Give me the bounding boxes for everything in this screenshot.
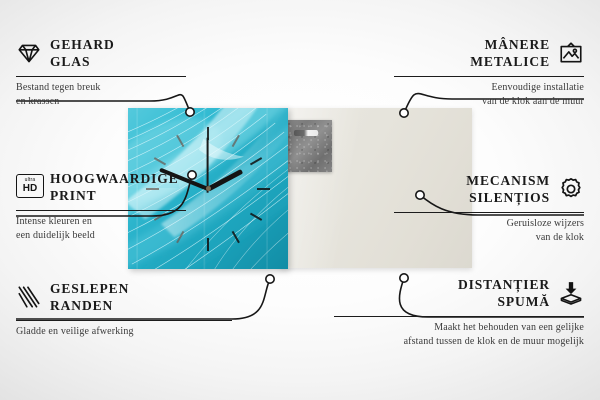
feature-description: Intense kleuren en een duidelijk beeld	[16, 215, 186, 243]
feature-rule	[16, 210, 186, 211]
infographic-stage: GEHARD GLAS Bestand tegen breuk en krass…	[0, 0, 600, 400]
feature-rule	[16, 320, 232, 321]
feature-rule	[394, 76, 584, 77]
foam-spacer-icon	[558, 280, 584, 306]
feature-description: Maakt het behouden van een gelijke afsta…	[334, 321, 584, 349]
hanger-keyhole-slot	[294, 130, 319, 136]
connector-dot-geslepen-randen	[266, 275, 274, 283]
feature-rule	[16, 76, 186, 77]
feature-manere-metalice: MÂNERE METALICE Eenvoudige installatie v…	[394, 36, 584, 109]
feature-description: Gladde en veilige afwerking	[16, 325, 232, 339]
beveled-edges-icon	[16, 284, 42, 310]
feature-description: Bestand tegen breuk en krassen	[16, 81, 186, 109]
clock-center-pin	[206, 186, 211, 191]
feature-title: MÂNERE METALICE	[470, 36, 550, 71]
feature-mecanism-silentios: MECANISM SILENȚIOS Geruisloze wijzers va…	[394, 172, 584, 245]
feature-description: Geruisloze wijzers van de klok	[394, 217, 584, 245]
feature-title: HOOGWAARDIGE PRINT	[50, 170, 179, 205]
wall-mount-picture-icon	[558, 40, 584, 66]
feature-title: GEHARD GLAS	[50, 36, 115, 71]
feature-hoogwaardige-print: ultra HD HOOGWAARDIGE PRINT Intense kleu…	[16, 170, 186, 243]
feature-title: MECANISM SILENȚIOS	[466, 172, 550, 207]
feature-geslepen-randen: GESLEPEN RANDEN Gladde en veilige afwerk…	[16, 280, 232, 339]
feature-rule	[334, 316, 584, 317]
ultra-hd-icon: ultra HD	[16, 174, 42, 200]
feature-gehard-glas: GEHARD GLAS Bestand tegen breuk en krass…	[16, 36, 186, 109]
feature-description: Eenvoudige installatie van de klok aan d…	[394, 81, 584, 109]
feature-title: DISTANȚIER SPUMĂ	[458, 276, 550, 311]
second-hand	[207, 137, 209, 192]
ultra-hd-main-label: HD	[23, 184, 37, 194]
feature-rule	[394, 212, 584, 213]
feature-title: GESLEPEN RANDEN	[50, 280, 129, 315]
gear-icon	[558, 176, 584, 202]
diamond-icon	[16, 40, 42, 66]
feature-distantier-spuma: DISTANȚIER SPUMĂ Maakt het behouden van …	[334, 276, 584, 349]
